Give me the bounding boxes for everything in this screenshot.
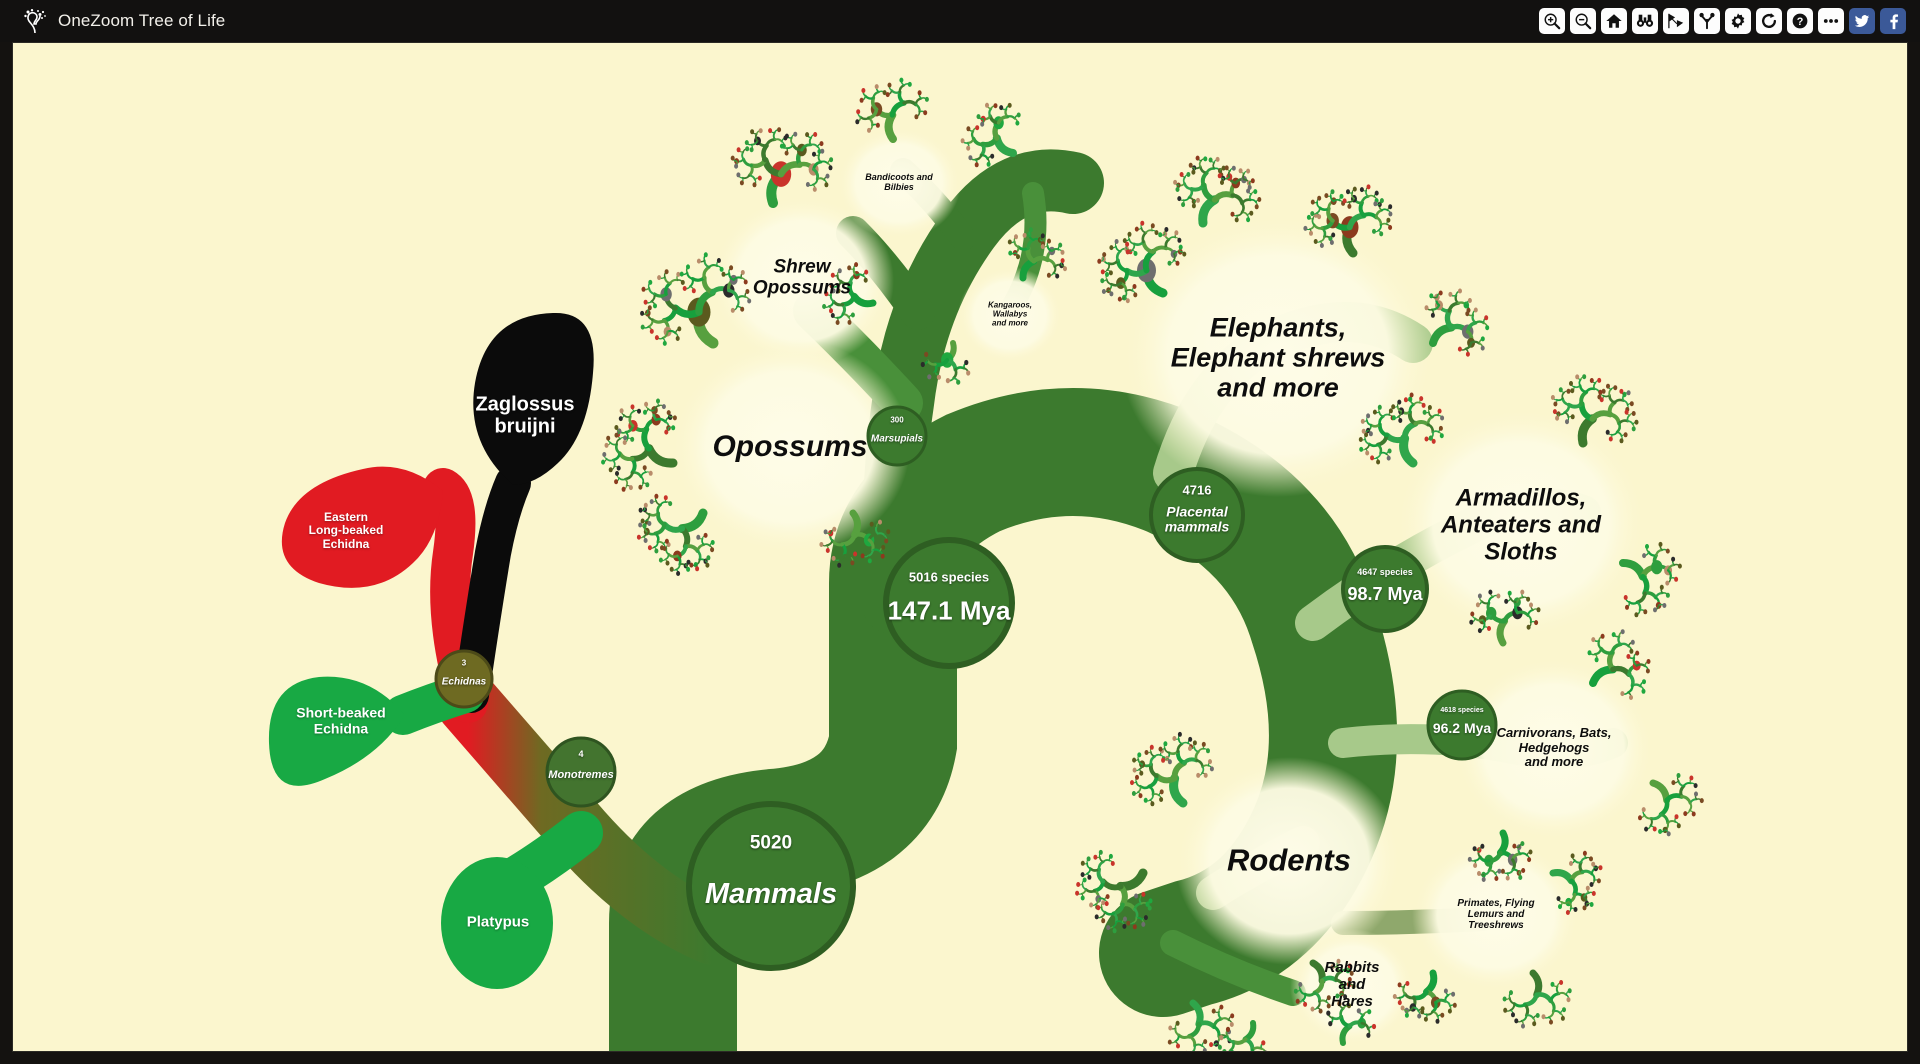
zoom-out-icon[interactable] (1570, 8, 1596, 34)
tree-canvas-frame[interactable]: Zaglossus bruijniEastern Long-beaked Ech… (12, 42, 1908, 1052)
location-flag-icon[interactable] (1663, 8, 1689, 34)
facebook-icon[interactable] (1880, 8, 1906, 34)
help-icon[interactable]: ? (1787, 8, 1813, 34)
gear-icon[interactable] (1725, 8, 1751, 34)
tree-stage[interactable]: Zaglossus bruijniEastern Long-beaked Ech… (13, 43, 1908, 1052)
binoculars-icon[interactable] (1632, 8, 1658, 34)
app-header: OneZoom Tree of Life ? (0, 0, 1920, 42)
leaf-platypus[interactable] (441, 857, 553, 989)
onezoom-fractal-tree-logo-icon (22, 8, 48, 34)
twitter-icon[interactable] (1849, 8, 1875, 34)
brand[interactable]: OneZoom Tree of Life (0, 8, 225, 34)
toolbar: ? (1539, 8, 1920, 34)
leaf-zaglossus-bruijni[interactable] (473, 313, 593, 485)
home-icon[interactable] (1601, 8, 1627, 34)
app-title: OneZoom Tree of Life (58, 11, 225, 31)
leaf-eastern-long-beaked-echidna[interactable] (282, 467, 443, 588)
more-icon[interactable] (1818, 8, 1844, 34)
tree-branch-icon[interactable] (1694, 8, 1720, 34)
leaf-short-beaked-echidna[interactable] (269, 677, 405, 786)
svg-text:?: ? (1797, 16, 1804, 28)
reset-icon[interactable] (1756, 8, 1782, 34)
tree-of-life-graphic[interactable] (13, 43, 1908, 1052)
zoom-in-icon[interactable] (1539, 8, 1565, 34)
